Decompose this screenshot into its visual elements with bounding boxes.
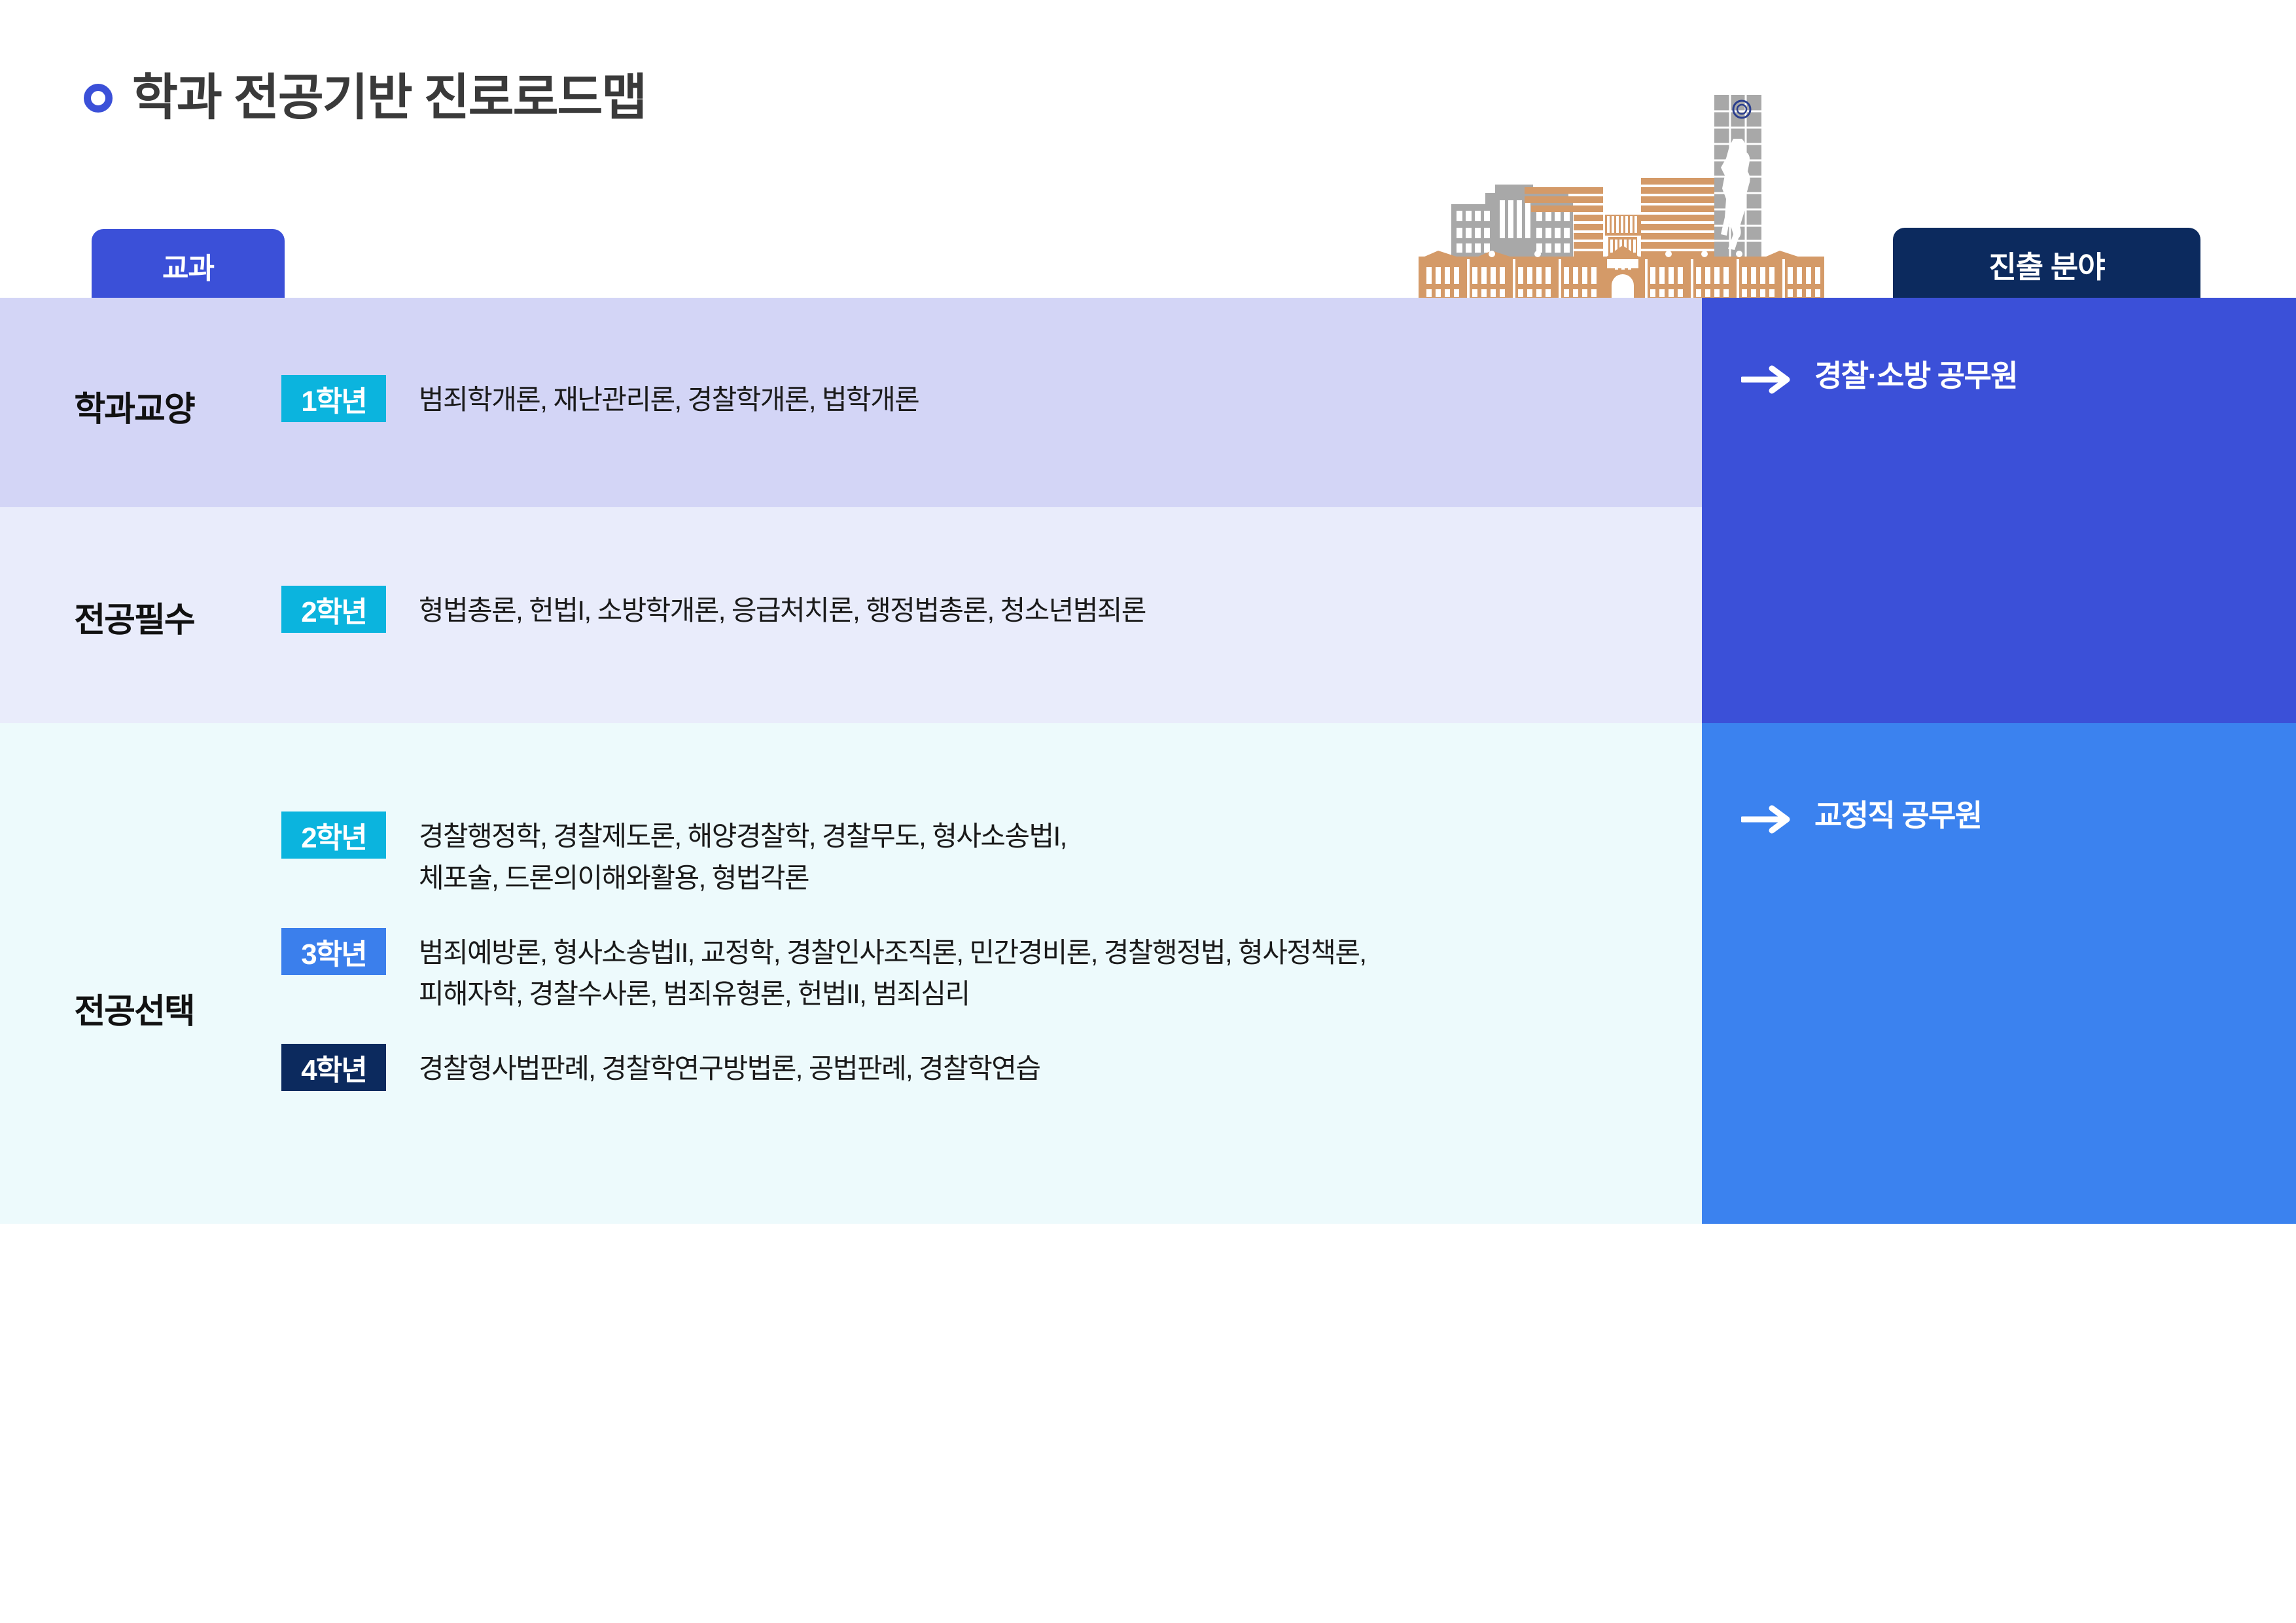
ring-bullet-icon [84, 84, 113, 113]
grade-group: 2학년 경찰행정학, 경찰제도론, 해양경찰학, 경찰무도, 형사소송법I, 체… [281, 811, 1702, 899]
career-panel: 경찰·소방 공무원 교정직 공무원 [1702, 298, 2296, 1224]
grade-badge: 3학년 [281, 928, 386, 975]
tab-career-field-label: 진출 분야 [1988, 243, 2104, 287]
course-list: 형법총론, 헌법I, 소방학개론, 응급처치론, 행정법총론, 청소년범죄론 [419, 586, 1146, 632]
grade-badge: 4학년 [281, 1044, 386, 1091]
curriculum-table: 학과교양 1학년 범죄학개론, 재난관리론, 경찰학개론, 법학개론 전공필수 … [0, 298, 1702, 1224]
course-line: 체포술, 드론의이해와활용, 형법각론 [419, 857, 1067, 899]
arrow-right-icon [1741, 365, 1791, 395]
row-category-label: 전공필수 [0, 507, 281, 641]
course-list: 경찰행정학, 경찰제도론, 해양경찰학, 경찰무도, 형사소송법I, 체포술, … [419, 811, 1067, 899]
career-item-correctional[interactable]: 교정직 공무원 [1702, 723, 2296, 1224]
course-line: 피해자학, 경찰수사론, 범죄유형론, 헌법II, 범죄심리 [419, 973, 1366, 1015]
tab-career-field[interactable]: 진출 분야 [1893, 228, 2200, 302]
page-title-row: 학과 전공기반 진로로드맵 [84, 73, 646, 123]
row-content: 2학년 형법총론, 헌법I, 소방학개론, 응급처치론, 행정법총론, 청소년범… [281, 507, 1702, 633]
table-row: 학과교양 1학년 범죄학개론, 재난관리론, 경찰학개론, 법학개론 [0, 298, 1702, 507]
page-title: 학과 전공기반 진로로드맵 [132, 73, 646, 123]
course-line: 형법총론, 헌법I, 소방학개론, 응급처치론, 행정법총론, 청소년범죄론 [419, 590, 1146, 632]
grade-group: 4학년 경찰형사법판례, 경찰학연구방법론, 공법판례, 경찰학연습 [281, 1044, 1702, 1091]
table-row: 전공필수 2학년 형법총론, 헌법I, 소방학개론, 응급처치론, 행정법총론,… [0, 507, 1702, 723]
course-line: 경찰행정학, 경찰제도론, 해양경찰학, 경찰무도, 형사소송법I, [419, 815, 1067, 857]
career-label: 교정직 공무원 [1814, 800, 1982, 830]
row-content: 1학년 범죄학개론, 재난관리론, 경찰학개론, 법학개론 [281, 298, 1702, 422]
course-line: 범죄학개론, 재난관리론, 경찰학개론, 법학개론 [419, 379, 919, 421]
grade-badge: 1학년 [281, 375, 386, 422]
career-label: 경찰·소방 공무원 [1814, 361, 2017, 391]
arrow-right-icon [1741, 804, 1791, 834]
row-content: 2학년 경찰행정학, 경찰제도론, 해양경찰학, 경찰무도, 형사소송법I, 체… [281, 723, 1702, 1091]
course-line: 범죄예방론, 형사소송법II, 교정학, 경찰인사조직론, 민간경비론, 경찰행… [419, 932, 1366, 974]
row-category-label: 학과교양 [0, 298, 281, 431]
row-category-label: 전공선택 [0, 723, 281, 1033]
tab-curriculum-label: 교과 [162, 245, 214, 287]
career-item-police-fire[interactable]: 경찰·소방 공무원 [1702, 298, 2296, 723]
grade-group: 3학년 범죄예방론, 형사소송법II, 교정학, 경찰인사조직론, 민간경비론,… [281, 928, 1702, 1016]
grade-group: 1학년 범죄학개론, 재난관리론, 경찰학개론, 법학개론 [281, 375, 1702, 422]
campus-skyline-illustration [1407, 65, 1839, 308]
grade-group: 2학년 형법총론, 헌법I, 소방학개론, 응급처치론, 행정법총론, 청소년범… [281, 586, 1702, 633]
table-row: 전공선택 2학년 경찰행정학, 경찰제도론, 해양경찰학, 경찰무도, 형사소송… [0, 723, 1702, 1224]
tab-curriculum[interactable]: 교과 [92, 229, 285, 302]
course-list: 범죄학개론, 재난관리론, 경찰학개론, 법학개론 [419, 375, 919, 421]
course-list: 범죄예방론, 형사소송법II, 교정학, 경찰인사조직론, 민간경비론, 경찰행… [419, 928, 1366, 1016]
course-line: 경찰형사법판례, 경찰학연구방법론, 공법판례, 경찰학연습 [419, 1048, 1040, 1090]
grade-badge: 2학년 [281, 811, 386, 859]
grade-badge: 2학년 [281, 586, 386, 633]
course-list: 경찰형사법판례, 경찰학연구방법론, 공법판례, 경찰학연습 [419, 1044, 1040, 1090]
